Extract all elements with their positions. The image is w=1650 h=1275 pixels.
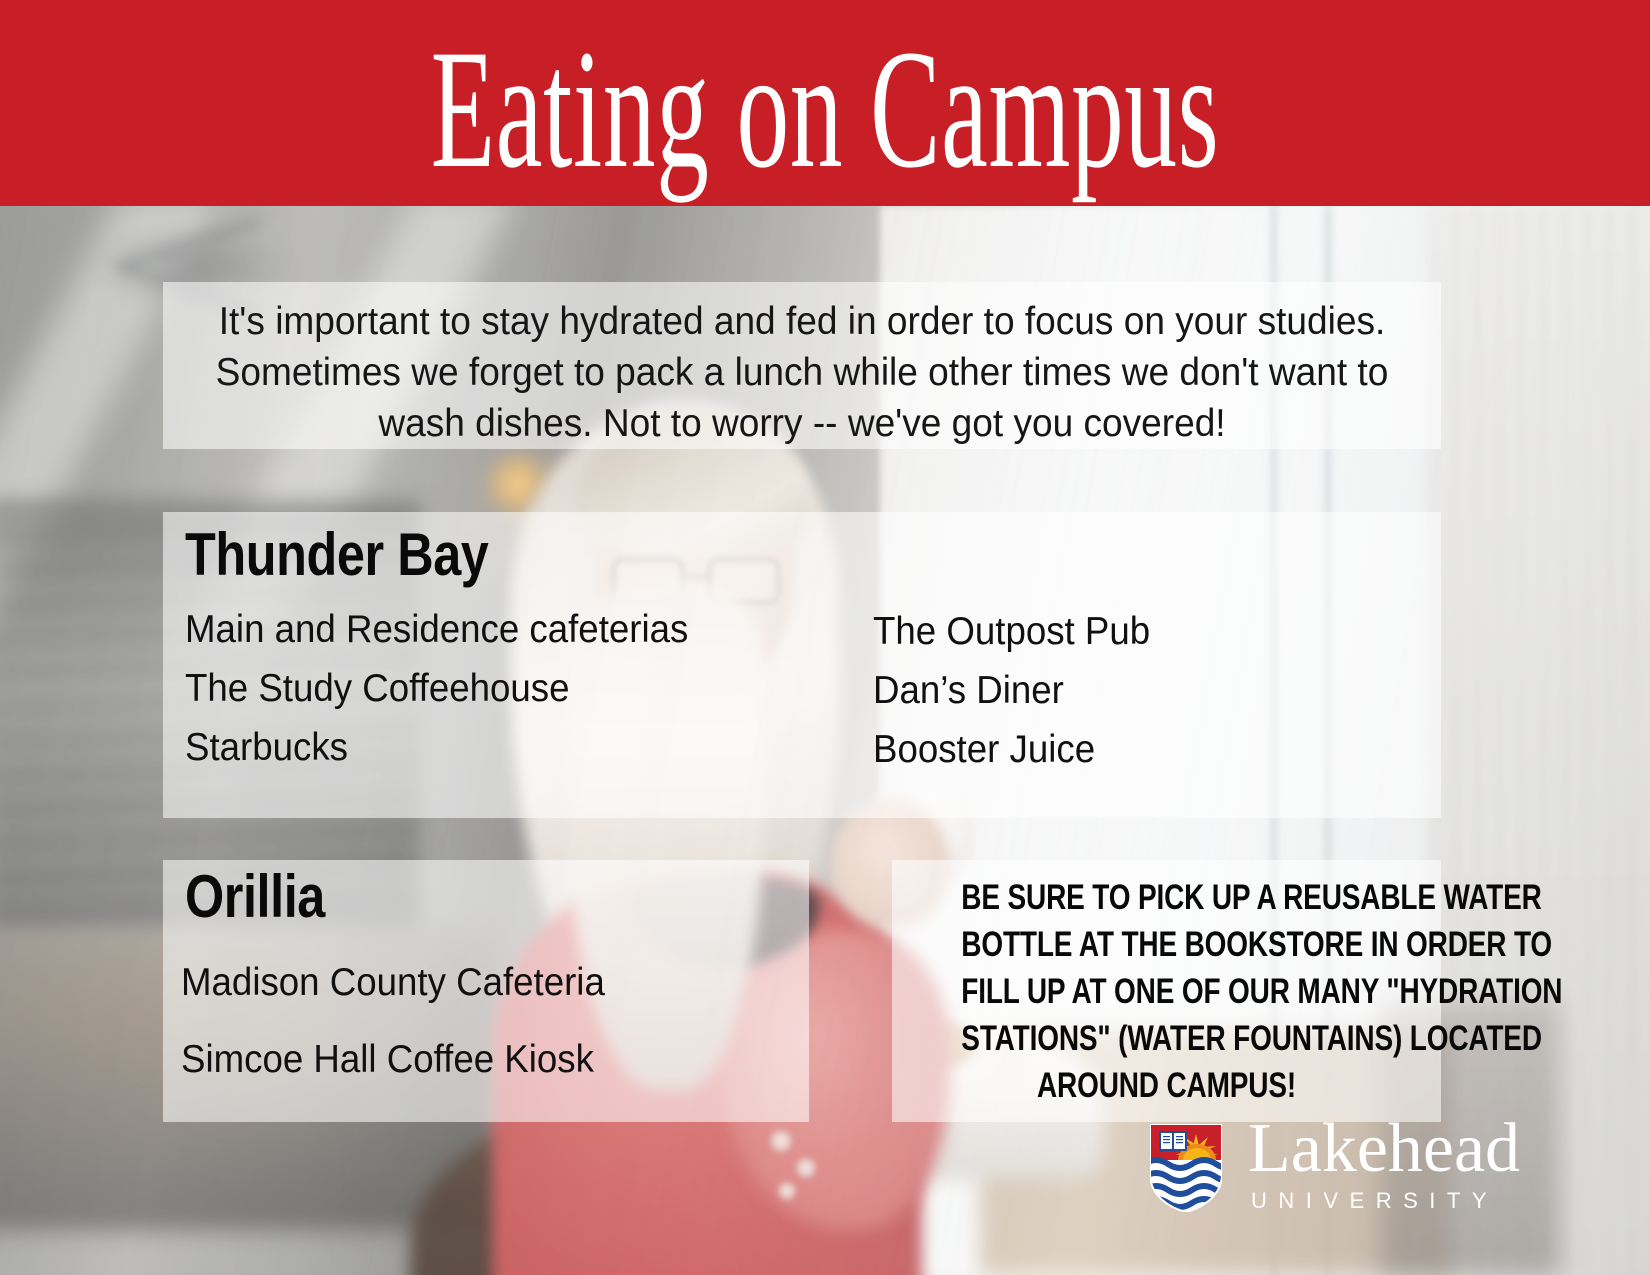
hydration-note-panel: BE SURE TO PICK UP A REUSABLE WATER BOTT… — [892, 860, 1441, 1122]
note-line: BE SURE TO PICK UP A REUSABLE WATER — [961, 874, 1371, 921]
logo-name: Lakehead — [1248, 1114, 1520, 1184]
list-item: The Outpost Pub — [873, 602, 1150, 661]
sweater-button — [770, 1130, 792, 1152]
list-item: Starbucks — [185, 718, 688, 777]
lakehead-logo: Lakehead UNIVERSITY — [1150, 1104, 1620, 1254]
hydration-note-text: BE SURE TO PICK UP A REUSABLE WATER BOTT… — [961, 874, 1371, 1109]
list-item: Main and Residence cafeterias — [185, 600, 688, 659]
thunder-bay-venues-right: The Outpost Pub Dan’s Diner Booster Juic… — [873, 602, 1168, 779]
intro-paragraph: It's important to stay hydrated and fed … — [208, 296, 1396, 449]
list-item: Booster Juice — [873, 720, 1150, 779]
thunder-bay-venues-left: Main and Residence cafeterias The Study … — [185, 600, 720, 777]
orillia-venues: Madison County Cafeteria Simcoe Hall Cof… — [181, 944, 632, 1098]
note-line: BOTTLE AT THE BOOKSTORE IN ORDER TO — [961, 921, 1371, 968]
list-item: Madison County Cafeteria — [181, 944, 605, 1021]
sweater-button — [796, 1158, 816, 1178]
note-line: STATIONS" (WATER FOUNTAINS) LOCATED — [961, 1015, 1371, 1062]
lakehead-shield-icon — [1150, 1124, 1222, 1212]
thunder-bay-heading: Thunder Bay — [185, 522, 488, 588]
page-title: Eating on Campus — [314, 34, 1337, 184]
sweater-button — [778, 1182, 796, 1200]
thunder-bay-panel: Thunder Bay Main and Residence cafeteria… — [163, 512, 1441, 818]
header-banner: Eating on Campus — [0, 0, 1650, 206]
list-item: Simcoe Hall Coffee Kiosk — [181, 1021, 605, 1098]
lakehead-wordmark: Lakehead UNIVERSITY — [1248, 1104, 1520, 1214]
orillia-heading: Orillia — [185, 864, 325, 930]
poster-canvas: Eating on Campus It's important to stay … — [0, 0, 1650, 1275]
list-item: The Study Coffeehouse — [185, 659, 688, 718]
list-item: Dan’s Diner — [873, 661, 1150, 720]
intro-panel: It's important to stay hydrated and fed … — [163, 282, 1441, 449]
logo-subtitle: UNIVERSITY — [1248, 1188, 1520, 1214]
orillia-panel: Orillia Madison County Cafeteria Simcoe … — [163, 860, 809, 1122]
note-line: AROUND CAMPUS! — [961, 1062, 1371, 1109]
note-line: FILL UP AT ONE OF OUR MANY "HYDRATION — [961, 968, 1371, 1015]
